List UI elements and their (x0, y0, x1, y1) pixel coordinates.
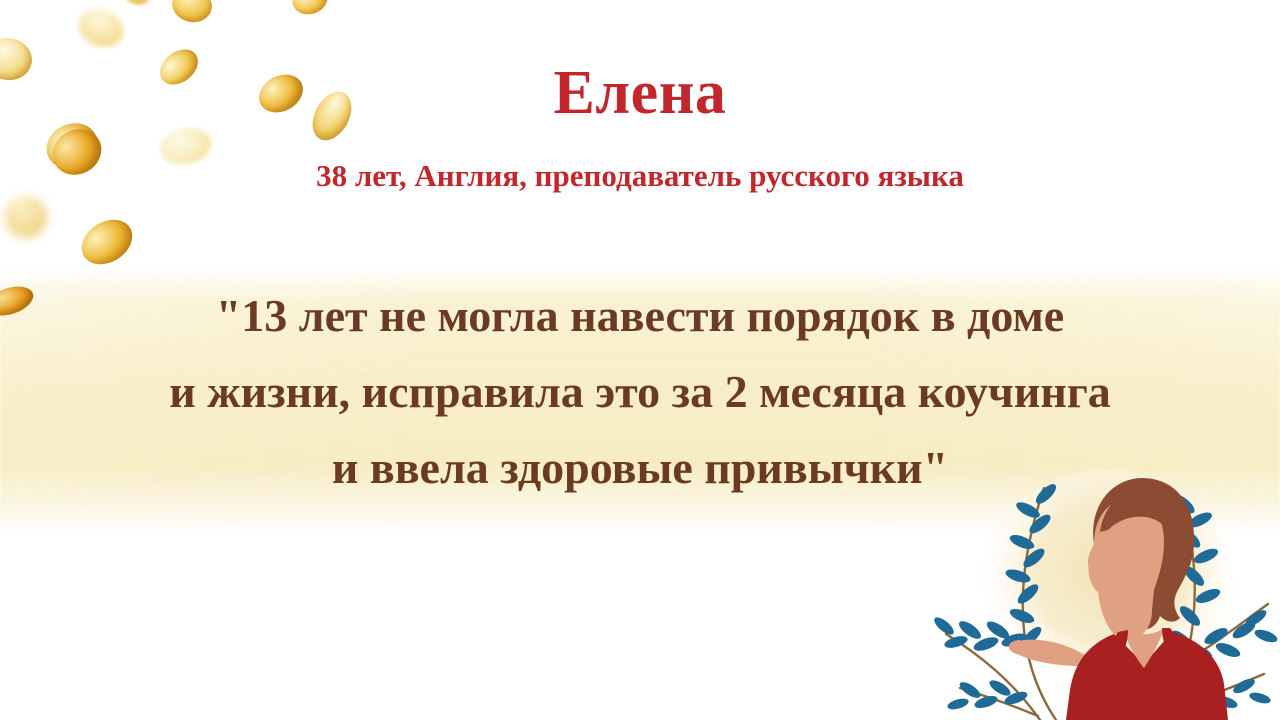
gold-coin-icon (288, 0, 332, 19)
quote-line: "13 лет не могла навести порядок в доме (14, 278, 1266, 354)
gold-coin-icon (73, 3, 129, 54)
gold-coin-icon (168, 0, 215, 26)
gold-coin-icon (5, 196, 47, 238)
person-name: Елена (0, 62, 1280, 124)
person-details: 38 лет, Англия, преподаватель русского я… (0, 160, 1280, 191)
gold-coin-icon (74, 211, 141, 274)
gold-coin-icon (117, 0, 156, 10)
quote-line: и жизни, исправила это за 2 месяца коучи… (14, 354, 1266, 430)
testimonial-slide: Елена 38 лет, Англия, преподаватель русс… (0, 0, 1280, 720)
woman-with-branches-illustration (928, 458, 1280, 720)
